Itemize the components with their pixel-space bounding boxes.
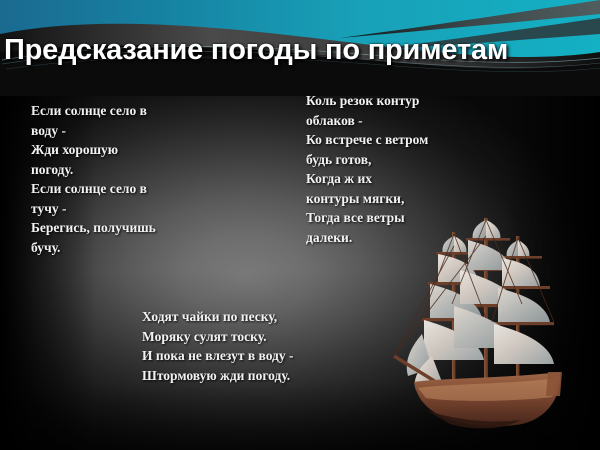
- verse-line: тучу -: [31, 199, 221, 219]
- verse-line: Ходят чайки по песку,: [142, 307, 382, 327]
- verse-line: Если солнце село в: [31, 101, 221, 121]
- verse-line: будь готов,: [306, 150, 496, 170]
- verse-line: Берегись, получишь: [31, 218, 221, 238]
- presentation-slide: Предсказание погоды по приметам Если сол…: [0, 0, 600, 450]
- verse-line: воду -: [31, 121, 221, 141]
- verse-line: Штормовую жди погоду.: [142, 366, 382, 386]
- verse-line: Моряку сулят тоску.: [142, 327, 382, 347]
- verse-sunset-omen: Если солнце село в воду - Жди хорошую по…: [31, 101, 221, 257]
- verse-line: Коль резок контур: [306, 91, 496, 111]
- verse-line: И пока не влезут в воду -: [142, 346, 382, 366]
- verse-seagull-omen: Ходят чайки по песку, Моряку сулят тоску…: [142, 307, 382, 385]
- verse-line: облаков -: [306, 111, 496, 131]
- verse-line: бучу.: [31, 238, 221, 258]
- verse-line: Если солнце село в: [31, 179, 221, 199]
- verse-line: Ко встрече с ветром: [306, 130, 496, 150]
- verse-line: Когда ж их: [306, 169, 496, 189]
- verse-line: Жди хорошую: [31, 140, 221, 160]
- sailing-ship-image: [392, 206, 582, 450]
- verse-line: погоду.: [31, 160, 221, 180]
- slide-title: Предсказание погоды по приметам: [4, 32, 596, 68]
